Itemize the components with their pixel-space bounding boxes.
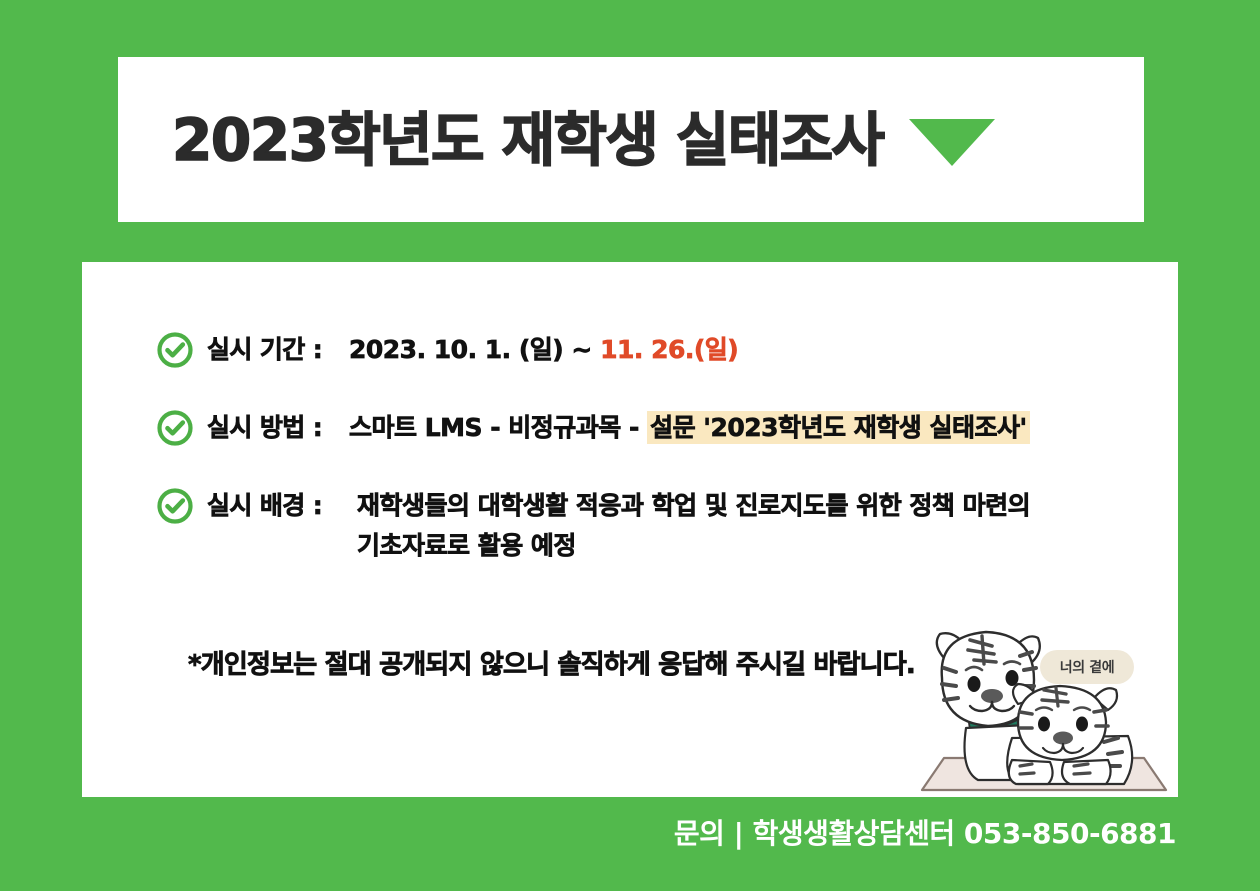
check-circle-icon xyxy=(156,487,194,525)
check-circle-icon xyxy=(156,331,194,369)
page-title: 2023학년도 재학생 실태조사 xyxy=(172,111,883,169)
background-line-1: 재학생들의 대학생활 적응과 학업 및 진로지도를 위한 정책 마련의 xyxy=(357,491,1030,520)
info-row-background: 실시 배경 : 재학생들의 대학생활 적응과 학업 및 진로지도를 위한 정책 … xyxy=(156,486,1166,566)
info-row-method: 실시 방법 : 스마트 LMS - 비정규과목 - 설문 '2023학년도 재학… xyxy=(156,408,1166,448)
info-row-value: 재학생들의 대학생활 적응과 학업 및 진로지도를 위한 정책 마련의 기초자료… xyxy=(357,486,1166,566)
method-plain: 스마트 LMS - 비정규과목 - xyxy=(349,413,647,442)
mascot-speech-bubble: 너의 곁에 xyxy=(1040,650,1134,684)
title-card: 2023학년도 재학생 실태조사 xyxy=(118,57,1144,222)
method-highlight: 설문 '2023학년도 재학생 실태조사' xyxy=(647,411,1030,444)
info-row-label: 실시 기간 : xyxy=(207,330,349,370)
main-content-card: 실시 기간 : 2023. 10. 1. (일) ~ 11. 26.(일) 실시… xyxy=(82,262,1178,797)
triangle-down-icon xyxy=(909,119,995,166)
period-accent: 11. 26.(일) xyxy=(600,335,738,364)
privacy-note: *개인정보는 절대 공개되지 않으니 솔직하게 응답해 주시길 바랍니다. xyxy=(188,644,915,681)
background-line-2: 기초자료로 활용 예정 xyxy=(357,526,1166,566)
info-row-label: 실시 방법 : xyxy=(207,408,349,448)
info-row-list: 실시 기간 : 2023. 10. 1. (일) ~ 11. 26.(일) 실시… xyxy=(156,330,1166,604)
period-plain: 2023. 10. 1. (일) ~ xyxy=(349,335,600,364)
info-row-period: 실시 기간 : 2023. 10. 1. (일) ~ 11. 26.(일) xyxy=(156,330,1166,370)
poster-root: 2023학년도 재학생 실태조사 실시 기간 : 2023. 10. 1. (일… xyxy=(0,0,1260,891)
footer-contact: 문의 | 학생생활상담센터 053-850-6881 xyxy=(674,812,1176,852)
check-circle-icon xyxy=(156,409,194,447)
info-row-value: 스마트 LMS - 비정규과목 - 설문 '2023학년도 재학생 실태조사' xyxy=(349,408,1166,448)
info-row-value: 2023. 10. 1. (일) ~ 11. 26.(일) xyxy=(349,330,1166,370)
info-row-label: 실시 배경 : xyxy=(207,486,357,526)
tiger-mascot: 너의 곁에 xyxy=(908,612,1178,797)
